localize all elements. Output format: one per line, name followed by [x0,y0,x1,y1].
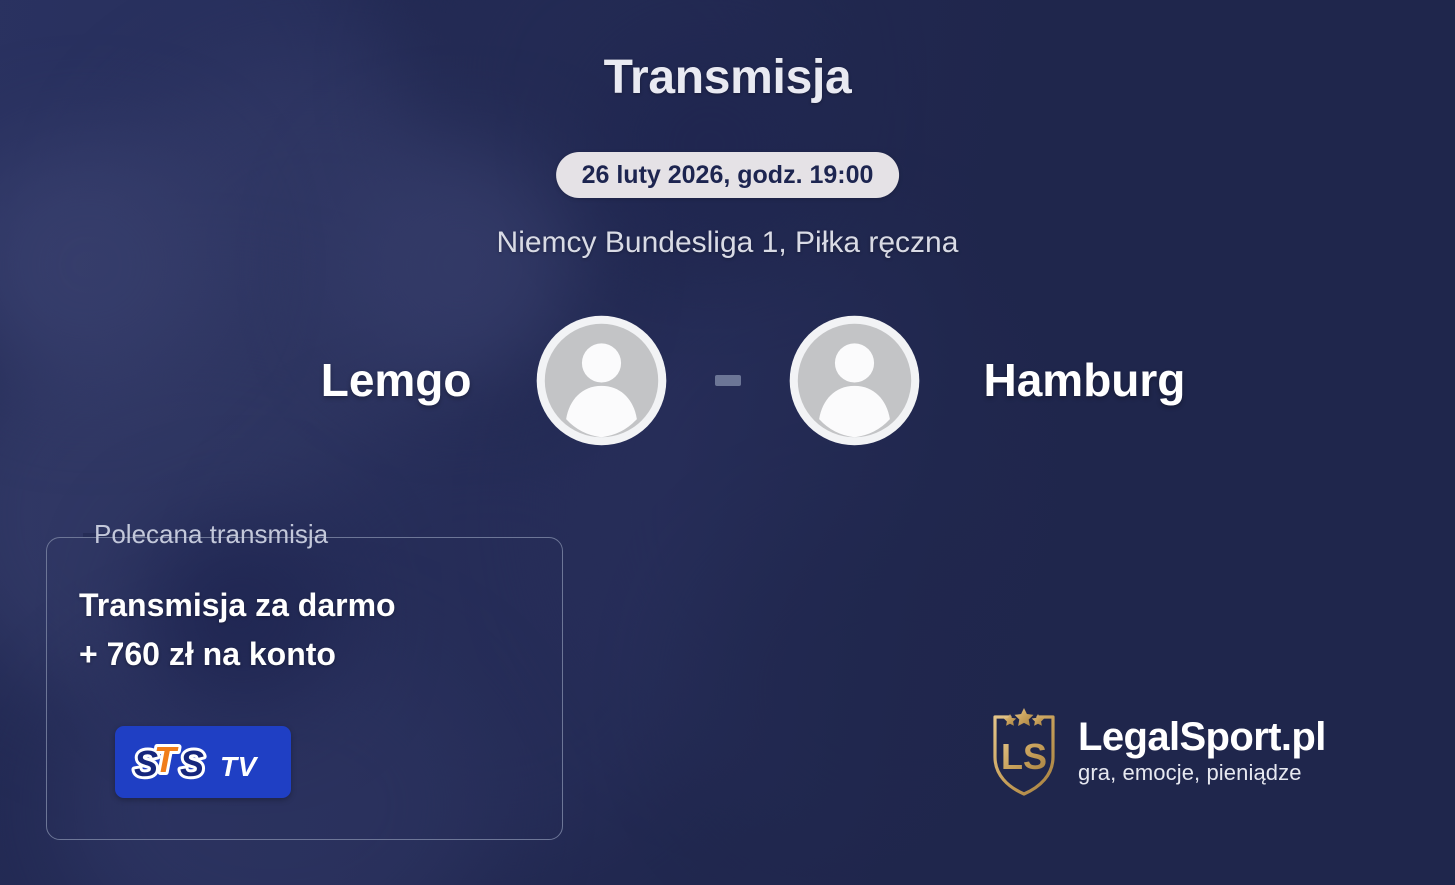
home-team-logo [534,313,669,448]
brand-tagline: gra, emocje, pieniądze [1078,760,1326,786]
home-team-name: Lemgo [204,353,534,407]
away-team-name: Hamburg [922,353,1252,407]
promo-headline: Transmisja za darmo + 760 zł na konto [79,581,519,678]
promo-headline-line-1: Transmisja za darmo [79,587,396,623]
match-row: Lemgo [0,310,1455,450]
brand-name: LegalSport.pl [1078,716,1326,758]
score-separator [715,375,741,386]
match-datetime-badge: 26 luty 2026, godz. 19:00 [556,152,900,198]
page-title: Transmisja [0,50,1455,105]
broadcast-promo-banner: Transmisja 26 luty 2026, godz. 19:00 Nie… [0,0,1455,885]
svg-text:LS: LS [1001,736,1047,777]
svg-text:T: T [154,739,179,780]
legalsport-brand[interactable]: LS LegalSport.pl gra, emocje, pieniądze [988,703,1326,799]
promo-headline-line-2: + 760 zł na konto [79,630,519,679]
person-placeholder-icon [787,313,922,448]
person-placeholder-icon [534,313,669,448]
svg-text:TV: TV [220,751,259,782]
league-and-sport-label: Niemcy Bundesliga 1, Piłka ręczna [0,226,1455,260]
svg-text:S: S [180,743,204,784]
promo-card-legend: Polecana transmisja [83,521,339,547]
away-team-logo [787,313,922,448]
sts-tv-logo[interactable]: S S T S S T TV [115,726,291,798]
recommended-broadcast-card[interactable]: Polecana transmisja Transmisja za darmo … [46,537,563,840]
ls-shield-icon: LS [988,703,1060,799]
brand-text-block: LegalSport.pl gra, emocje, pieniądze [1078,716,1326,786]
